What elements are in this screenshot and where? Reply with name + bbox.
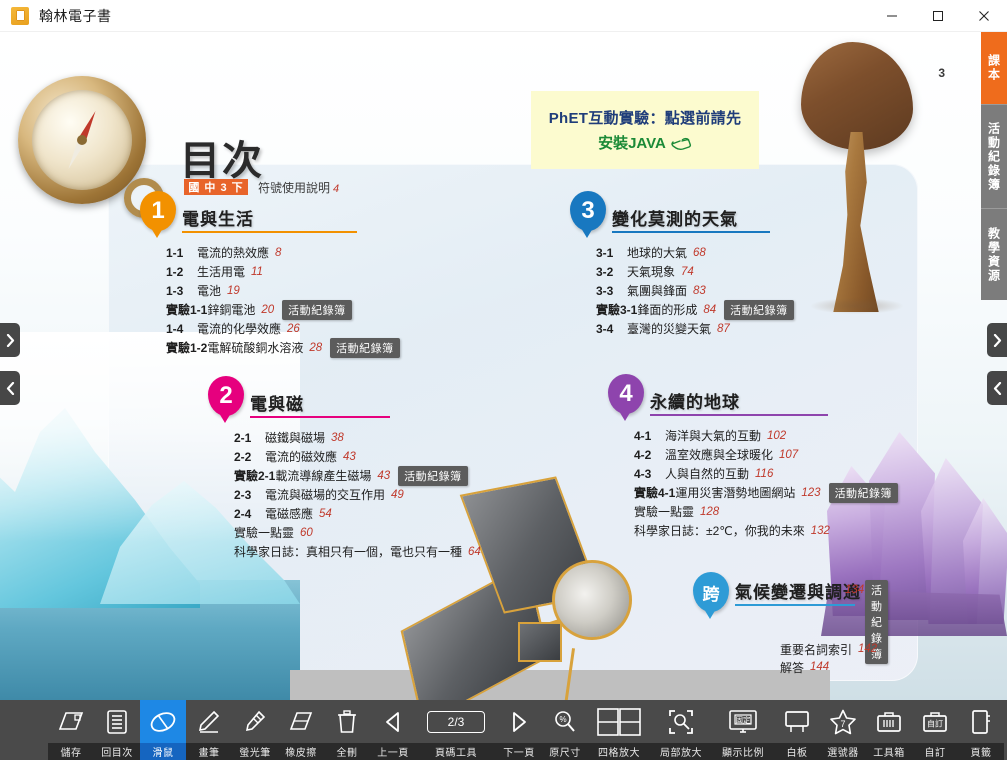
item-page: 8 xyxy=(275,247,281,259)
item-page: 11 xyxy=(251,266,263,278)
item-page: 84 xyxy=(703,304,716,316)
toolbox-icon xyxy=(876,706,902,738)
item-page: 43 xyxy=(377,470,390,482)
chapter-2-rule xyxy=(250,416,390,418)
item-num: 1-1 xyxy=(166,246,192,260)
item-page: 60 xyxy=(300,527,313,539)
item-label: 地球的大氣 xyxy=(627,244,687,261)
item-label: 臺灣的災變天氣 xyxy=(627,320,711,337)
record-book-badge[interactable]: 活動紀錄簿 xyxy=(282,300,352,320)
list-item[interactable]: 實驗3-1鋒面的形成84活動紀錄簿 xyxy=(596,300,794,319)
item-label: 科學家日誌：真相只有一個，電也只有一種 xyxy=(234,543,462,560)
item-page: 68 xyxy=(693,247,706,259)
quad-zoom-button[interactable]: 四格放大 xyxy=(588,700,650,760)
page-tab-label: 頁籤 xyxy=(958,743,1004,760)
item-label: 電池 xyxy=(197,282,221,299)
page-title: 目次 xyxy=(180,128,264,186)
next-triangle-icon xyxy=(508,706,530,738)
actual-size-label: 原尺寸 xyxy=(542,743,588,760)
item-label: 磁鐵與磁場 xyxy=(265,429,325,446)
cross-page: 134 xyxy=(845,584,864,596)
chapter-1-items: 1-1電流的熱效應8 1-2生活用電11 1-3電池19 實驗1-1鋅銅電池20… xyxy=(166,243,400,357)
mouse-tool-button[interactable]: 滑鼠 xyxy=(140,700,186,760)
item-page: 19 xyxy=(227,285,240,297)
chapter-2-number: 2 xyxy=(219,382,232,410)
grade-badge: 國 中 3 下 xyxy=(184,179,248,195)
pen-icon xyxy=(198,706,220,738)
item-label: 電磁感應 xyxy=(265,505,313,522)
list-item[interactable]: 2-1磁鐵與磁場38 xyxy=(234,428,481,447)
area-zoom-icon xyxy=(668,706,694,738)
svg-text:自訂: 自訂 xyxy=(927,719,943,729)
item-page: 64 xyxy=(468,546,481,558)
chapter-1-rule xyxy=(182,231,357,233)
right-tab-rail: 課本 活動紀錄簿 教學資源 xyxy=(981,32,1007,300)
item-num: 2-2 xyxy=(234,450,260,464)
rail-tab-record-book[interactable]: 活動紀錄簿 xyxy=(981,104,1007,208)
minimize-icon[interactable] xyxy=(869,0,915,32)
item-label: 溫室效應與全球暖化 xyxy=(665,446,773,463)
svg-text:7: 7 xyxy=(840,719,845,729)
item-page: 132 xyxy=(811,525,830,537)
list-item[interactable]: 3-1地球的大氣68 xyxy=(596,243,794,262)
display-ratio-label: 顯示比例 xyxy=(712,743,774,760)
item-label: 電流的化學效應 xyxy=(197,320,281,337)
item-label: 天氣現象 xyxy=(627,263,675,280)
toolbox-label: 工具箱 xyxy=(866,743,912,760)
zoom-reset-icon: % xyxy=(553,706,577,738)
chapter-1-title[interactable]: 電與生活 xyxy=(182,205,254,230)
bookmark-tab-icon xyxy=(970,706,992,738)
phet-note-line2: 安裝JAVA xyxy=(598,132,692,153)
actual-size-button[interactable]: % 原尺寸 xyxy=(542,700,588,760)
cross-bubble-label: 跨 xyxy=(703,580,720,605)
item-label: 實驗一點靈 xyxy=(234,524,294,541)
list-item[interactable]: 2-2電流的磁效應43 xyxy=(234,447,481,466)
item-num: 實驗3-1 xyxy=(596,301,637,318)
clear-all-button[interactable]: 全刪 xyxy=(324,700,370,760)
item-page: 116 xyxy=(755,468,773,480)
item-page: 142 xyxy=(858,643,877,655)
chevron-right-icon[interactable] xyxy=(0,323,20,357)
close-icon[interactable] xyxy=(961,0,1007,32)
rail-tab-textbook[interactable]: 課本 xyxy=(981,32,1007,104)
next-page-label: 下一頁 xyxy=(496,743,542,760)
list-item[interactable]: 1-3電池19 xyxy=(166,281,400,300)
custom-button[interactable]: 自訂 自訂 xyxy=(912,700,958,760)
mouse-icon xyxy=(149,706,177,738)
page-number-tool-label: 頁碼工具 xyxy=(416,743,496,760)
chapter-3-rule xyxy=(612,231,770,233)
record-book-badge[interactable]: 活動紀錄簿 xyxy=(724,300,794,320)
number-picker-label: 選號器 xyxy=(820,743,866,760)
svg-text:固定: 固定 xyxy=(736,715,751,725)
item-num: 4-2 xyxy=(634,448,660,462)
item-label: 人與自然的互動 xyxy=(665,465,749,482)
highlighter-tool-button[interactable]: 螢光筆 xyxy=(232,700,278,760)
rail-tab-resources[interactable]: 教學資源 xyxy=(981,208,1007,300)
chapter-2-title[interactable]: 電與磁 xyxy=(250,390,304,415)
list-item[interactable]: 2-4電磁感應54 xyxy=(234,504,481,523)
list-item[interactable]: 實驗2-1載流導線產生磁場43活動紀錄簿 xyxy=(234,466,481,485)
list-item[interactable]: 3-4臺灣的災變天氣87 xyxy=(596,319,794,338)
item-num: 3-1 xyxy=(596,246,622,260)
eraser-tool-label: 橡皮擦 xyxy=(278,743,324,760)
mouse-tool-label: 滑鼠 xyxy=(140,743,186,760)
list-item[interactable]: 4-2溫室效應與全球暖化107 xyxy=(634,445,898,464)
back-to-toc-button[interactable]: 回目次 xyxy=(94,700,140,760)
list-item[interactable]: 1-1電流的熱效應8 xyxy=(166,243,400,262)
clear-all-label: 全刪 xyxy=(324,743,370,760)
chevron-right-icon[interactable] xyxy=(987,323,1007,357)
title-bar: 翰林電子書 xyxy=(0,0,1007,32)
item-num: 實驗4-1 xyxy=(634,484,675,501)
highlighter-icon xyxy=(244,706,266,738)
item-num: 3-2 xyxy=(596,265,622,279)
list-item[interactable]: 1-2生活用電11 xyxy=(166,262,400,281)
phet-note-line2-text: 安裝JAVA xyxy=(598,132,666,153)
item-label: 海洋與大氣的互動 xyxy=(665,427,761,444)
item-num: 2-3 xyxy=(234,488,260,502)
custom-case-icon: 自訂 xyxy=(922,706,948,738)
prev-triangle-icon xyxy=(382,706,404,738)
chapter-4-rule xyxy=(650,414,828,416)
item-label: 電流的熱效應 xyxy=(197,244,269,261)
item-page: 54 xyxy=(319,508,332,520)
window-title: 翰林電子書 xyxy=(39,6,112,26)
ebook-window: 翰林電子書 xyxy=(0,0,1007,760)
list-item[interactable]: 實驗一點靈128 xyxy=(634,502,898,521)
highlighter-tool-label: 螢光筆 xyxy=(232,743,278,760)
item-label: 重要名詞索引 xyxy=(780,641,852,658)
item-label: 電流的磁效應 xyxy=(265,448,337,465)
area-zoom-button[interactable]: 局部放大 xyxy=(650,700,712,760)
save-label: 儲存 xyxy=(48,743,94,760)
svg-text:%: % xyxy=(559,715,566,724)
item-label: 鋅銅電池 xyxy=(207,301,255,318)
chapter-4-title[interactable]: 永續的地球 xyxy=(650,388,740,413)
item-num: 4-3 xyxy=(634,467,660,481)
eraser-tool-button[interactable]: 橡皮擦 xyxy=(278,700,324,760)
chevron-left-icon[interactable] xyxy=(0,371,20,405)
monitor-fixed-icon: 固定 xyxy=(728,706,758,738)
page-number: 3 xyxy=(938,66,945,80)
item-label: 實驗一點靈 xyxy=(634,503,694,520)
item-label: 解答 xyxy=(780,659,804,676)
symbol-usage-page: 4 xyxy=(333,183,339,195)
symbol-usage-note[interactable]: 符號使用說明4 xyxy=(258,179,339,196)
list-item[interactable]: 3-2天氣現象74 xyxy=(596,262,794,281)
chapter-2-items: 2-1磁鐵與磁場38 2-2電流的磁效應43 實驗2-1載流導線產生磁場43活動… xyxy=(234,428,481,561)
list-item[interactable]: 4-1海洋與大氣的互動102 xyxy=(634,426,898,445)
whiteboard-label: 白板 xyxy=(774,743,820,760)
list-item[interactable]: 實驗一點靈60 xyxy=(234,523,481,542)
book-icon xyxy=(11,7,29,25)
item-num: 實驗1-1 xyxy=(166,301,207,318)
list-item[interactable]: 解答144 xyxy=(780,658,877,676)
list-item[interactable]: 實驗4-1運用災害潛勢地圖網站123活動紀錄簿 xyxy=(634,483,898,502)
cross-title[interactable]: 氣候變遷與調適 xyxy=(735,578,861,603)
toolbox-button[interactable]: 工具箱 xyxy=(866,700,912,760)
item-page: 49 xyxy=(391,489,404,501)
quad-zoom-label: 四格放大 xyxy=(588,743,650,760)
item-num: 3-3 xyxy=(596,284,622,298)
item-page: 20 xyxy=(261,304,274,316)
star-number-icon: 7 xyxy=(829,706,857,738)
pointing-hand-icon xyxy=(670,135,692,151)
chapter-3-number: 3 xyxy=(581,197,594,225)
list-item[interactable]: 3-3氣團與鋒面83 xyxy=(596,281,794,300)
whiteboard-icon xyxy=(784,706,810,738)
item-label: 載流導線產生磁場 xyxy=(275,467,371,484)
page-indicator[interactable]: 2/3 xyxy=(427,711,485,733)
display-ratio-button[interactable]: 固定 顯示比例 xyxy=(712,700,774,760)
cross-rule xyxy=(735,604,855,606)
list-item[interactable]: 4-3人與自然的互動116 xyxy=(634,464,898,483)
list-item[interactable]: 實驗1-1鋅銅電池20活動紀錄簿 xyxy=(166,300,400,319)
area-zoom-label: 局部放大 xyxy=(650,743,712,760)
item-num: 4-1 xyxy=(634,429,660,443)
symbol-usage-label: 符號使用說明 xyxy=(258,181,330,195)
custom-label: 自訂 xyxy=(912,743,958,760)
quad-zoom-icon xyxy=(597,706,641,738)
list-item[interactable]: 實驗1-2電解硫酸銅水溶液28活動紀錄簿 xyxy=(166,338,400,357)
record-book-badge[interactable]: 活動紀錄簿 xyxy=(829,483,899,503)
chevron-left-icon[interactable] xyxy=(987,371,1007,405)
list-item[interactable]: 重要名詞索引142 xyxy=(780,640,877,658)
item-num: 2-1 xyxy=(234,431,260,445)
item-page: 28 xyxy=(309,342,322,354)
item-page: 102 xyxy=(767,430,786,442)
book-page: 3 PhET互動實驗：點選前請先 安裝JAVA 目次 國 中 3 下 符號使用說… xyxy=(0,32,1007,700)
next-page-button[interactable]: 下一頁 xyxy=(496,700,542,760)
list-item[interactable]: 2-3電流與磁場的交互作用49 xyxy=(234,485,481,504)
item-num: 1-3 xyxy=(166,284,192,298)
save-button[interactable]: 儲存 xyxy=(48,700,94,760)
page-tab-button[interactable]: 頁籤 xyxy=(958,700,1004,760)
chapter-4-number: 4 xyxy=(619,380,632,408)
item-label: 運用災害潛勢地圖網站 xyxy=(675,484,795,501)
phet-note-line1: PhET互動實驗：點選前請先 xyxy=(549,107,742,128)
pen-tool-label: 畫筆 xyxy=(186,743,232,760)
item-page: 128 xyxy=(700,506,719,518)
back-matter: 重要名詞索引142 解答144 xyxy=(780,640,877,676)
number-picker-button[interactable]: 7 選號器 xyxy=(820,700,866,760)
item-label: 科學家日誌：±2℃，你我的未來 xyxy=(634,522,805,539)
whiteboard-button[interactable]: 白板 xyxy=(774,700,820,760)
list-item[interactable]: 1-4電流的化學效應26 xyxy=(166,319,400,338)
item-page: 26 xyxy=(287,323,300,335)
window-controls xyxy=(869,0,1007,32)
item-label: 電解硫酸銅水溶液 xyxy=(207,339,303,356)
page-box-icon: 2/3 xyxy=(427,706,485,738)
prev-page-button[interactable]: 上一頁 xyxy=(370,700,416,760)
eraser-icon xyxy=(289,706,313,738)
item-label: 生活用電 xyxy=(197,263,245,280)
item-num: 3-4 xyxy=(596,322,622,336)
item-label: 電流與磁場的交互作用 xyxy=(265,486,385,503)
list-item[interactable]: 科學家日誌：真相只有一個，電也只有一種64 xyxy=(234,542,481,561)
prev-page-label: 上一頁 xyxy=(370,743,416,760)
item-page: 87 xyxy=(717,323,730,335)
list-item[interactable]: 科學家日誌：±2℃，你我的未來132 xyxy=(634,521,898,540)
toc-list-icon xyxy=(106,706,128,738)
item-num: 1-2 xyxy=(166,265,192,279)
chapter-4-items: 4-1海洋與大氣的互動102 4-2溫室效應與全球暖化107 4-3人與自然的互… xyxy=(634,426,898,540)
item-num: 實驗2-1 xyxy=(234,467,275,484)
phet-note: PhET互動實驗：點選前請先 安裝JAVA xyxy=(531,91,759,169)
item-page: 107 xyxy=(779,449,798,461)
item-page: 144 xyxy=(810,661,829,673)
item-num: 2-4 xyxy=(234,507,260,521)
back-to-toc-label: 回目次 xyxy=(94,743,140,760)
item-page: 43 xyxy=(343,451,356,463)
item-page: 83 xyxy=(693,285,706,297)
pen-tool-button[interactable]: 畫筆 xyxy=(186,700,232,760)
item-num: 1-4 xyxy=(166,322,192,336)
item-page: 123 xyxy=(801,487,820,499)
item-page: 74 xyxy=(681,266,694,278)
item-label: 鋒面的形成 xyxy=(637,301,697,318)
chapter-3-items: 3-1地球的大氣68 3-2天氣現象74 3-3氣團與鋒面83 實驗3-1鋒面的… xyxy=(596,243,794,338)
item-label: 氣團與鋒面 xyxy=(627,282,687,299)
save-diamond-icon xyxy=(58,706,84,738)
item-page: 38 xyxy=(331,432,344,444)
page-number-tool[interactable]: 2/3 頁碼工具 xyxy=(416,700,496,760)
record-book-badge[interactable]: 活動紀錄簿 xyxy=(330,338,400,358)
trash-icon xyxy=(337,706,357,738)
record-book-badge[interactable]: 活動紀錄簿 xyxy=(398,466,468,486)
item-num: 實驗1-2 xyxy=(166,339,207,356)
chapter-3-title[interactable]: 變化莫測的天氣 xyxy=(612,205,738,230)
chapter-1-number: 1 xyxy=(151,197,164,225)
maximize-icon[interactable] xyxy=(915,0,961,32)
bottom-toolbar: 儲存 回目次 滑鼠 畫筆 螢光筆 xyxy=(0,700,1007,760)
